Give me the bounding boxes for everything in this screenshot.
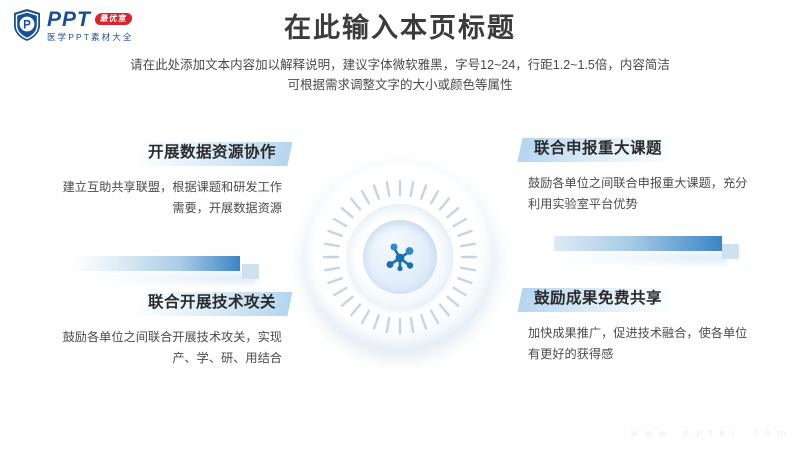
block-heading-text: 开展数据资源协作 <box>148 144 276 161</box>
block-heading-text: 联合开展技术攻关 <box>148 294 276 311</box>
subtitle-line-2: 可根据需求调整文字的大小或颜色等属性 <box>0 75 800 96</box>
page-title: 在此输入本页标题 <box>0 14 800 44</box>
network-molecule-icon <box>380 237 420 277</box>
page-subtitle: 请在此处添加文本内容加以解释说明，建议字体微软雅黑，字号12~24，行距1.2~… <box>0 55 800 96</box>
core-circle <box>363 220 437 294</box>
block-body-text: 鼓励各单位之间联合申报重大课题，充分利用实验室平台优势 <box>524 173 754 216</box>
content-block-bottom-left: 联合开展技术攻关 鼓励各单位之间联合开展技术攻关，实现产、学、研、用结合 <box>56 290 286 369</box>
block-heading: 联合开展技术攻关 <box>138 290 286 318</box>
block-heading: 鼓励成果免费共享 <box>524 286 672 314</box>
block-heading: 联合申报重大课题 <box>524 136 672 164</box>
divider-bar-left <box>72 256 262 271</box>
block-heading-text: 联合申报重大课题 <box>534 140 662 157</box>
content-block-top-left: 开展数据资源协作 建立互助共享联盟，根据课题和研发工作需要，开展数据资源 <box>56 140 286 219</box>
header-area: 在此输入本页标题 请在此处添加文本内容加以解释说明，建议字体微软雅黑，字号12~… <box>0 14 800 96</box>
block-body-text: 建立互助共享联盟，根据课题和研发工作需要，开展数据资源 <box>56 177 286 220</box>
content-block-bottom-right: 鼓励成果免费共享 加快成果推广，促进技术融合，使各单位有更好的获得感 <box>524 286 754 365</box>
divider-main-bar <box>554 236 722 251</box>
divider-end-cap <box>722 244 739 259</box>
block-body-text: 加快成果推广，促进技术融合，使各单位有更好的获得感 <box>524 323 754 366</box>
divider-glow <box>76 272 256 284</box>
block-heading-text: 鼓励成果免费共享 <box>534 290 662 307</box>
divider-end-cap <box>242 264 259 279</box>
subtitle-line-1: 请在此处添加文本内容加以解释说明，建议字体微软雅黑，字号12~24，行距1.2~… <box>0 55 800 76</box>
block-heading: 开展数据资源协作 <box>138 140 286 168</box>
site-watermark: w w w . p p t e r . c o m <box>631 428 788 438</box>
divider-glow <box>546 252 726 264</box>
block-body-text: 鼓励各单位之间联合开展技术攻关，实现产、学、研、用结合 <box>56 327 286 370</box>
content-block-top-right: 联合申报重大课题 鼓励各单位之间联合申报重大课题，充分利用实验室平台优势 <box>524 136 754 215</box>
divider-bar-right <box>536 236 731 251</box>
divider-main-bar <box>72 256 240 271</box>
center-circular-graphic <box>305 162 495 352</box>
